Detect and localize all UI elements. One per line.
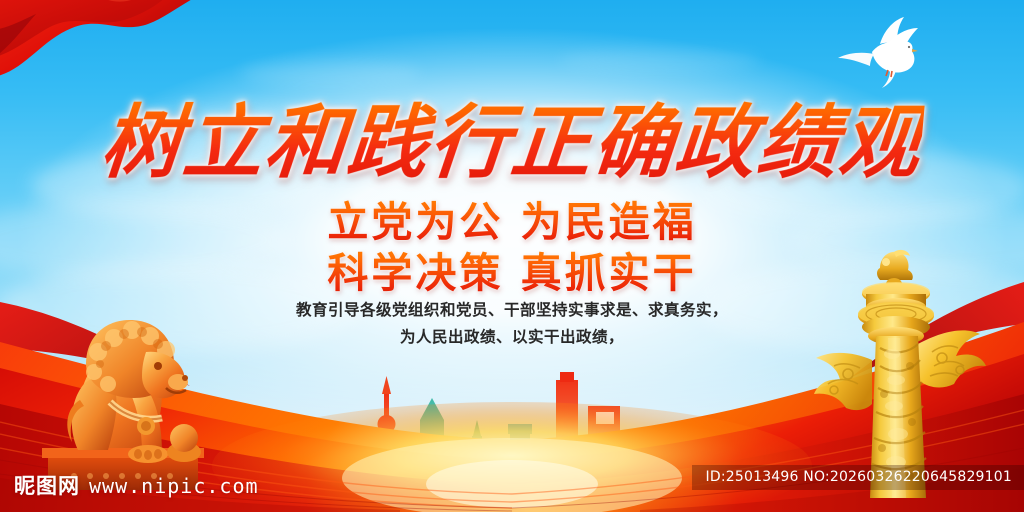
asset-id-watermark: ID:25013496 NO:20260326220645829101	[692, 465, 1024, 490]
cloud-shape	[560, 48, 760, 72]
page-title: 树立和践行正确政绩观	[97, 78, 927, 194]
stone-lion-statue-icon	[38, 280, 228, 490]
poster-canvas: 树立和践行正确政绩观 立党为公 为民造福 科学决策 真抓实干 教育引导各级党组织…	[0, 0, 1024, 512]
title-container: 树立和践行正确政绩观	[0, 78, 1024, 194]
huabiao-column-icon	[814, 248, 1004, 498]
site-url: www.nipic.com	[89, 474, 259, 498]
site-name-cn: 昵图网	[14, 470, 80, 500]
site-watermark: 昵图网 www.nipic.com	[14, 470, 259, 500]
